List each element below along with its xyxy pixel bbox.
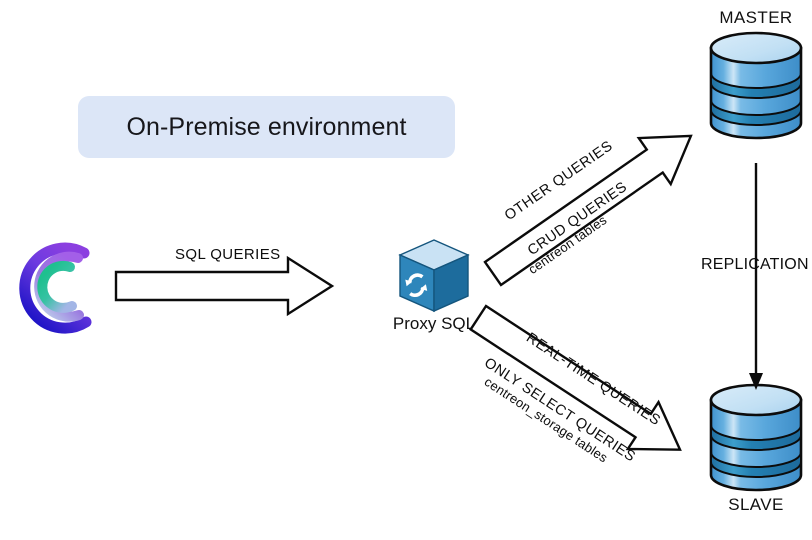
replication-arrow (749, 163, 763, 390)
only-select-queries-label: ONLY SELECT QUERIES (481, 355, 638, 465)
proxy-sql-label: Proxy SQL (380, 314, 488, 334)
master-database-cylinder-icon (700, 28, 812, 143)
proxy-sql-cube-icon (397, 238, 471, 314)
diagram-canvas: On-Premise environment (0, 0, 812, 540)
on-premise-environment-box: On-Premise environment (78, 96, 455, 158)
replication-label: REPLICATION (701, 256, 809, 274)
slave-database-label: SLAVE (700, 495, 812, 515)
master-database-label: MASTER (700, 8, 812, 28)
sql-queries-label: SQL QUERIES (175, 246, 281, 263)
proxy-sql-node: Proxy SQL (392, 238, 476, 343)
centreon-logo-icon (6, 234, 106, 342)
slave-database-node: SLAVE (700, 380, 812, 515)
sql-queries-arrow (116, 258, 332, 314)
slave-database-cylinder-icon (700, 380, 812, 495)
master-database-node: MASTER (700, 8, 812, 143)
centreon-logo (6, 234, 106, 342)
on-premise-environment-label: On-Premise environment (126, 113, 406, 142)
